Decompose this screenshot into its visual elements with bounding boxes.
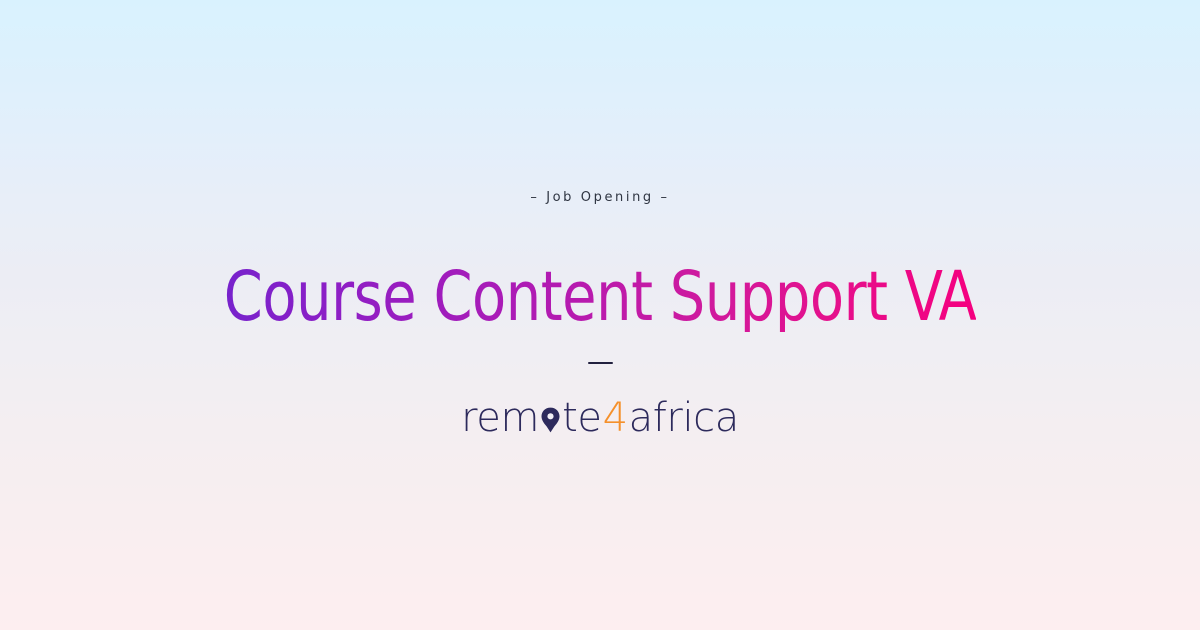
logo-text-part2: te bbox=[562, 398, 602, 438]
page-title: Course Content Support VA bbox=[224, 263, 977, 332]
divider-container bbox=[588, 356, 613, 370]
divider-rule bbox=[588, 362, 613, 364]
logo-text-part1: rem bbox=[461, 398, 539, 438]
logo-digit-four: 4 bbox=[602, 398, 629, 438]
map-pin-icon bbox=[540, 406, 561, 434]
eyebrow-label: – Job Opening – bbox=[530, 191, 669, 204]
title-container: Course Content Support VA bbox=[0, 256, 1200, 338]
brand-logo: rem te 4 africa bbox=[461, 398, 739, 438]
logo-container: rem te 4 africa bbox=[461, 392, 739, 444]
logo-text-part3: africa bbox=[629, 398, 739, 438]
job-opening-card: – Job Opening – Course Content Support V… bbox=[0, 0, 1200, 630]
eyebrow-container: – Job Opening – bbox=[530, 186, 669, 208]
